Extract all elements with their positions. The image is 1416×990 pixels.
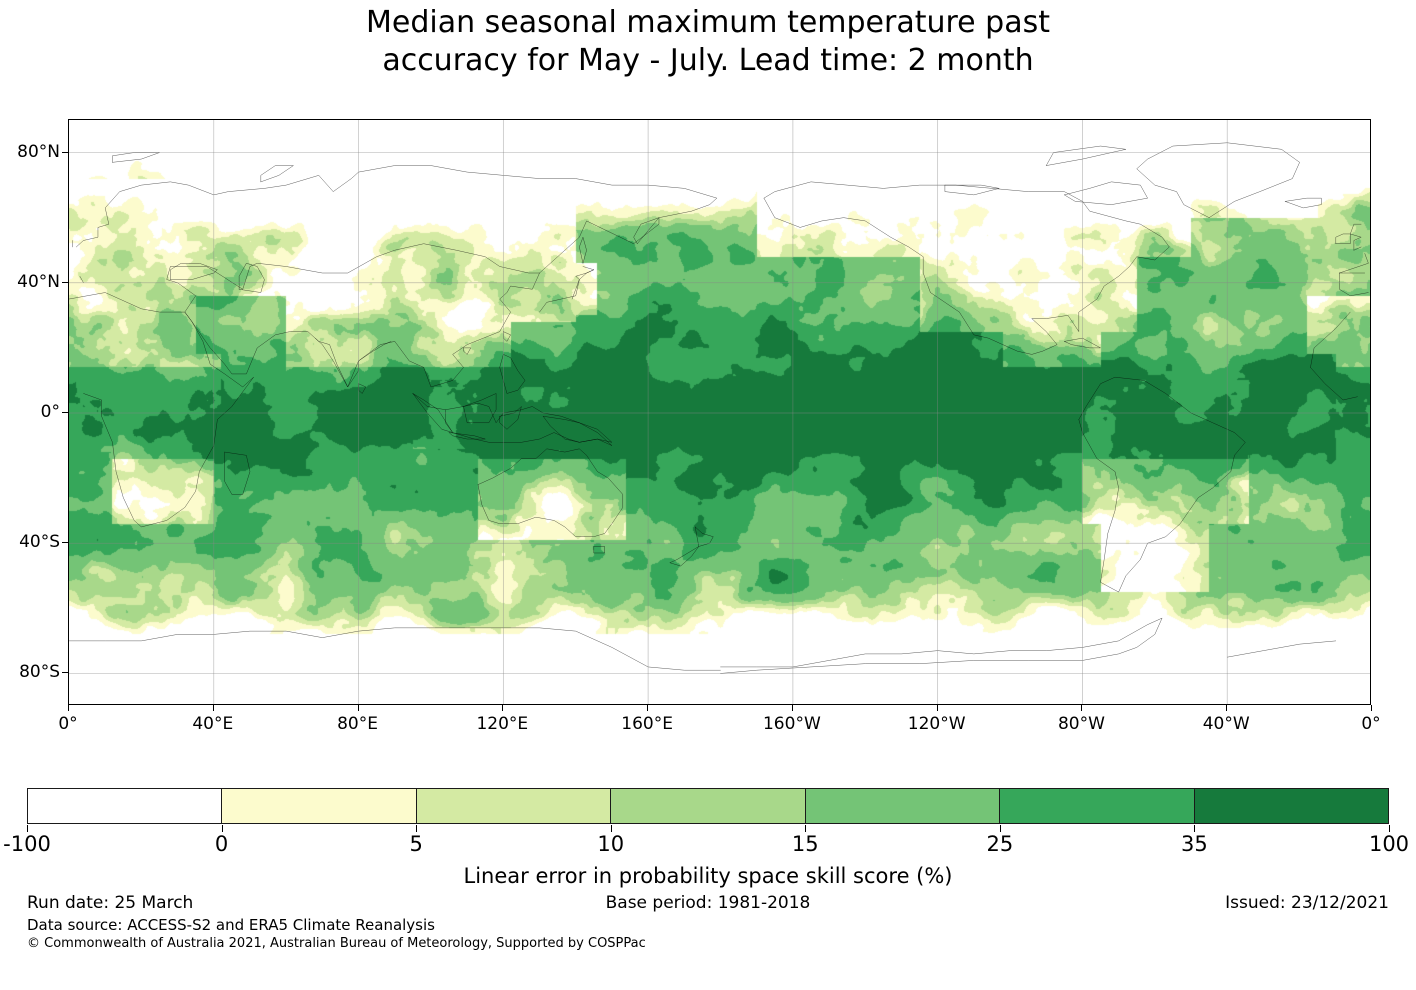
x-tick-label: 80°W	[1058, 714, 1105, 734]
y-tickmark	[62, 672, 68, 673]
colorbar-tickmark	[611, 825, 612, 832]
colorbar-tick-label: 5	[409, 832, 422, 856]
x-tick-label: 160°E	[621, 714, 673, 734]
colorbar-segment-5	[1000, 789, 1194, 823]
y-tick-label: 80°S	[19, 662, 60, 682]
x-tick-label: 40°W	[1203, 714, 1250, 734]
colorbar-segment-2	[417, 789, 611, 823]
y-tickmark	[62, 542, 68, 543]
x-tickmark	[647, 705, 648, 711]
x-tickmark	[1226, 705, 1227, 711]
x-tickmark	[792, 705, 793, 711]
footer-data-source: Data source: ACCESS-S2 and ERA5 Climate …	[27, 916, 435, 934]
x-tick-label: 120°E	[476, 714, 528, 734]
footer-issued-date: Issued: 23/12/2021	[1225, 893, 1389, 913]
y-tick-label: 80°N	[17, 142, 60, 162]
colorbar-tickmark	[416, 825, 417, 832]
colorbar-tickmark	[222, 825, 223, 832]
colorbar-tickmark	[27, 825, 28, 832]
y-tick-label: 40°S	[19, 532, 60, 552]
x-tick-label: 40°E	[192, 714, 233, 734]
x-tick-label: 160°W	[763, 714, 821, 734]
colorbar-tickmark	[1389, 825, 1390, 832]
colorbar-tick-label: 35	[1181, 832, 1208, 856]
colorbar-tickmark	[805, 825, 806, 832]
y-tick-label: 40°N	[17, 272, 60, 292]
colorbar-label: Linear error in probability space skill …	[0, 864, 1416, 888]
y-tickmark	[62, 282, 68, 283]
footer-copyright: © Commonwealth of Australia 2021, Austra…	[27, 936, 646, 951]
x-tick-label: 0°	[58, 714, 77, 734]
colorbar-tick-label: 15	[792, 832, 819, 856]
x-tickmark	[937, 705, 938, 711]
x-tickmark	[502, 705, 503, 711]
y-tickmark	[62, 152, 68, 153]
colorbar-tick-label: 100	[1369, 832, 1409, 856]
colorbar-tick-label: 0	[215, 832, 228, 856]
colorbar-segment-6	[1195, 789, 1388, 823]
x-tickmark	[213, 705, 214, 711]
footer-base-period: Base period: 1981-2018	[0, 893, 1416, 913]
colorbar-segment-4	[806, 789, 1000, 823]
colorbar-segment-3	[611, 789, 805, 823]
colorbar-segment-0	[28, 789, 222, 823]
x-tickmark	[1371, 705, 1372, 711]
colorbar-tickmark	[1194, 825, 1195, 832]
x-tickmark	[1081, 705, 1082, 711]
graticule-grid	[69, 120, 1371, 705]
map-plot-area	[68, 119, 1371, 705]
colorbar	[27, 788, 1389, 824]
x-tick-label: 80°E	[337, 714, 378, 734]
colorbar-tick-label: -100	[3, 832, 51, 856]
colorbar-tick-label: 10	[597, 832, 624, 856]
x-tick-label: 120°W	[908, 714, 966, 734]
page-title: Median seasonal maximum temperature past…	[0, 4, 1416, 80]
colorbar-tickmark	[1000, 825, 1001, 832]
colorbar-segment-1	[222, 789, 416, 823]
y-tickmark	[62, 412, 68, 413]
x-tickmark	[358, 705, 359, 711]
y-tick-label: 0°	[41, 402, 60, 422]
x-tickmark	[68, 705, 69, 711]
x-tick-label: 0°	[1361, 714, 1380, 734]
colorbar-tick-label: 25	[986, 832, 1013, 856]
